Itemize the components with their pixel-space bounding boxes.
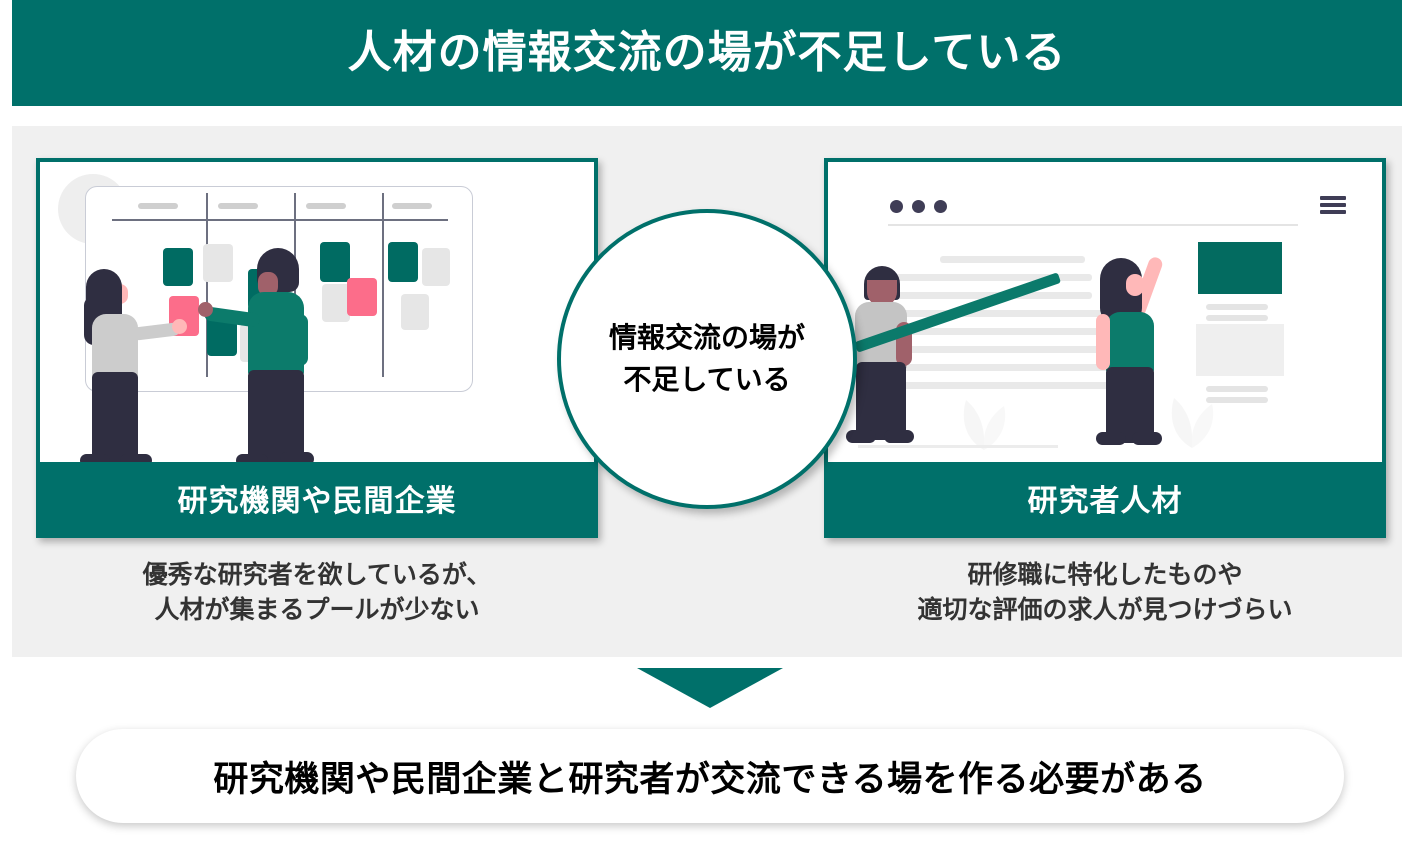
hamburger-menu-icon bbox=[1320, 196, 1346, 200]
content-caption-line bbox=[1206, 315, 1268, 321]
conclusion-text: 研究機関や民間企業と研究者が交流できる場を作る必要がある bbox=[213, 751, 1206, 802]
slide-root: 人材の情報交流の場が不足している bbox=[0, 0, 1418, 841]
window-dot-icon bbox=[890, 200, 903, 213]
caption-line-2: 適切な評価の求人が見つけづらい bbox=[824, 593, 1386, 628]
person-shoe bbox=[1132, 432, 1162, 445]
plant-decoration-icon bbox=[1166, 390, 1218, 448]
person-shoe bbox=[846, 430, 876, 443]
window-dot-icon bbox=[912, 200, 925, 213]
caption-line-1: 研修職に特化したものや bbox=[824, 558, 1386, 593]
person-shoe bbox=[1096, 432, 1126, 445]
center-badge-line1: 情報交流の場が bbox=[609, 317, 805, 359]
caption-researcher-talent: 研修職に特化したものや 適切な評価の求人が見つけづらい bbox=[824, 558, 1386, 627]
center-badge-line2: 不足している bbox=[623, 359, 790, 401]
content-text-line bbox=[896, 364, 1126, 371]
sticky-note bbox=[422, 248, 450, 286]
header-banner: 人材の情報交流の場が不足している bbox=[12, 0, 1402, 106]
caption-line-2: 人材が集まるプールが少ない bbox=[36, 593, 598, 628]
sticky-note bbox=[388, 242, 418, 282]
page-title: 人材の情報交流の場が不足している bbox=[348, 31, 1067, 75]
sticky-note bbox=[203, 244, 233, 282]
sticky-note bbox=[322, 284, 350, 322]
person-torso bbox=[248, 292, 304, 378]
person-torso bbox=[1106, 312, 1154, 374]
board-column-divider bbox=[382, 193, 384, 377]
person-hand bbox=[172, 319, 187, 334]
sticky-note bbox=[320, 242, 350, 282]
board-column-header bbox=[138, 203, 178, 209]
board-column-header bbox=[392, 203, 432, 209]
card-label-researcher-talent: 研究者人材 bbox=[828, 462, 1382, 534]
person-torso bbox=[92, 314, 138, 380]
board-header-rule bbox=[112, 219, 448, 221]
plant-decoration-icon bbox=[958, 392, 1010, 450]
caption-research-institutions: 優秀な研究者を欲しているが、 人材が集まるプールが少ない bbox=[36, 558, 598, 627]
content-text-line bbox=[896, 274, 1092, 281]
sticky-note bbox=[347, 278, 377, 316]
window-separator bbox=[888, 224, 1298, 226]
board-column-header bbox=[218, 203, 258, 209]
person-legs bbox=[856, 362, 906, 440]
content-placeholder-block bbox=[1196, 324, 1284, 376]
hamburger-menu-icon bbox=[1320, 203, 1346, 207]
content-text-line bbox=[896, 346, 1126, 353]
browser-window-illustration bbox=[828, 162, 1382, 466]
conclusion-banner: 研究機関や民間企業と研究者が交流できる場を作る必要がある bbox=[76, 729, 1344, 823]
content-text-line bbox=[896, 382, 1126, 389]
content-text-line bbox=[940, 256, 1085, 263]
kanban-board-illustration bbox=[40, 162, 594, 466]
card-label-research-institutions: 研究機関や民間企業 bbox=[40, 462, 594, 534]
person-hand bbox=[198, 302, 213, 317]
content-caption-line bbox=[1206, 304, 1268, 310]
person-face bbox=[1126, 274, 1144, 296]
window-dot-icon bbox=[934, 200, 947, 213]
person-arm bbox=[1096, 314, 1110, 370]
sticky-note bbox=[401, 294, 429, 330]
card-researcher-talent[interactable]: 研究者人材 bbox=[824, 158, 1386, 538]
content-image-block bbox=[1198, 242, 1282, 294]
card-research-institutions[interactable]: 研究機関や民間企業 bbox=[36, 158, 598, 538]
content-text-line bbox=[896, 328, 1126, 335]
board-column-header bbox=[306, 203, 346, 209]
arrow-down-icon bbox=[637, 668, 783, 708]
sticky-note bbox=[163, 248, 193, 286]
ground-line bbox=[858, 445, 1058, 448]
hamburger-menu-icon bbox=[1320, 210, 1346, 214]
center-badge: 情報交流の場が 不足している bbox=[557, 209, 857, 509]
person-shoe bbox=[884, 430, 914, 443]
person-legs bbox=[92, 372, 138, 466]
caption-line-1: 優秀な研究者を欲しているが、 bbox=[36, 558, 598, 593]
